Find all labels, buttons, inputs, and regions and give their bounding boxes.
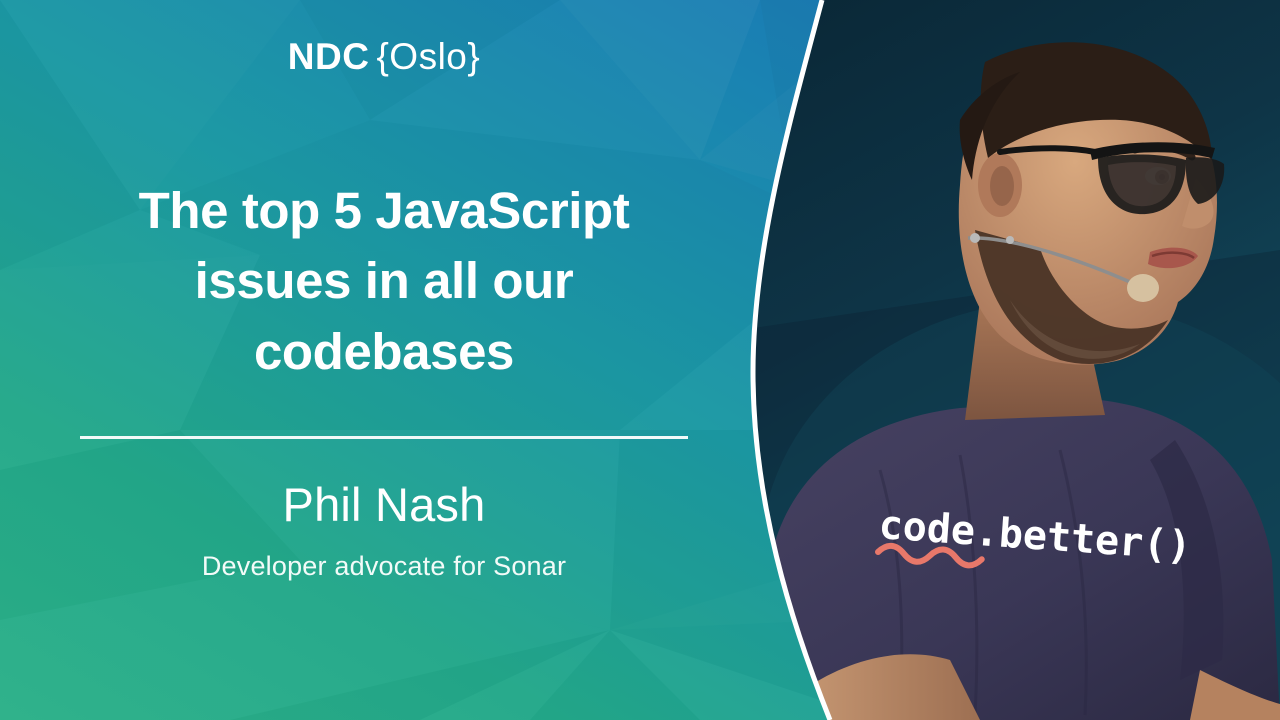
ndc-logo-mark: NDC [288,36,370,77]
talk-title-line-1: The top 5 JavaScript [64,176,704,246]
mic-windscreen-icon [1127,274,1159,302]
speaker-role: Developer advocate for Sonar [0,551,768,582]
talk-title: The top 5 JavaScript issues in all our c… [64,176,704,387]
talk-title-line-2: issues in all our [64,246,704,316]
text-column: NDC{Oslo} The top 5 JavaScript issues in… [0,0,768,720]
ndc-oslo-logo: NDC{Oslo} [0,36,768,78]
title-divider-rule [80,436,688,439]
talk-title-line-3: codebases [64,317,704,387]
photo-content: code.better() [740,0,1280,720]
ndc-logo-city: {Oslo} [376,36,480,77]
talk-title-slide: code.better() NDC{Oslo} The top 5 JavaSc… [0,0,1280,720]
speaker-name: Phil Nash [0,477,768,532]
